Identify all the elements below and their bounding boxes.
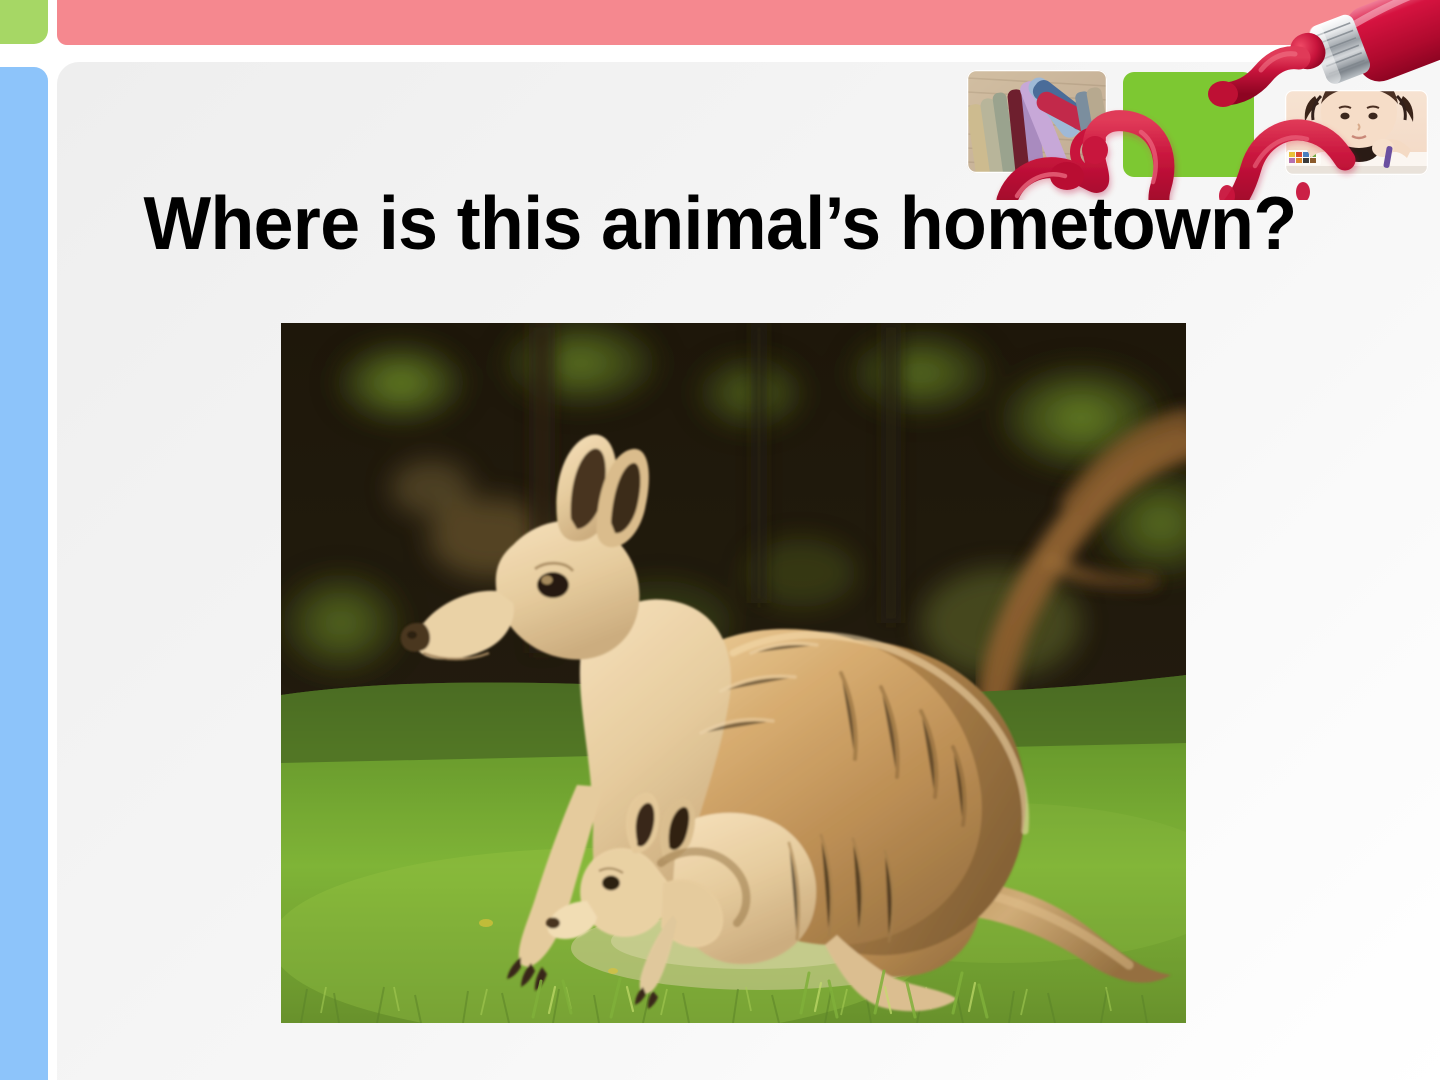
kangaroo-with-joey-photo (281, 323, 1186, 1023)
slide-canvas: Where is this animal’s hometown? (0, 0, 1440, 1080)
top-pink-bar (57, 0, 1440, 45)
page-title: Where is this animal’s hometown? (32, 185, 1407, 262)
corner-green-square (0, 0, 48, 44)
